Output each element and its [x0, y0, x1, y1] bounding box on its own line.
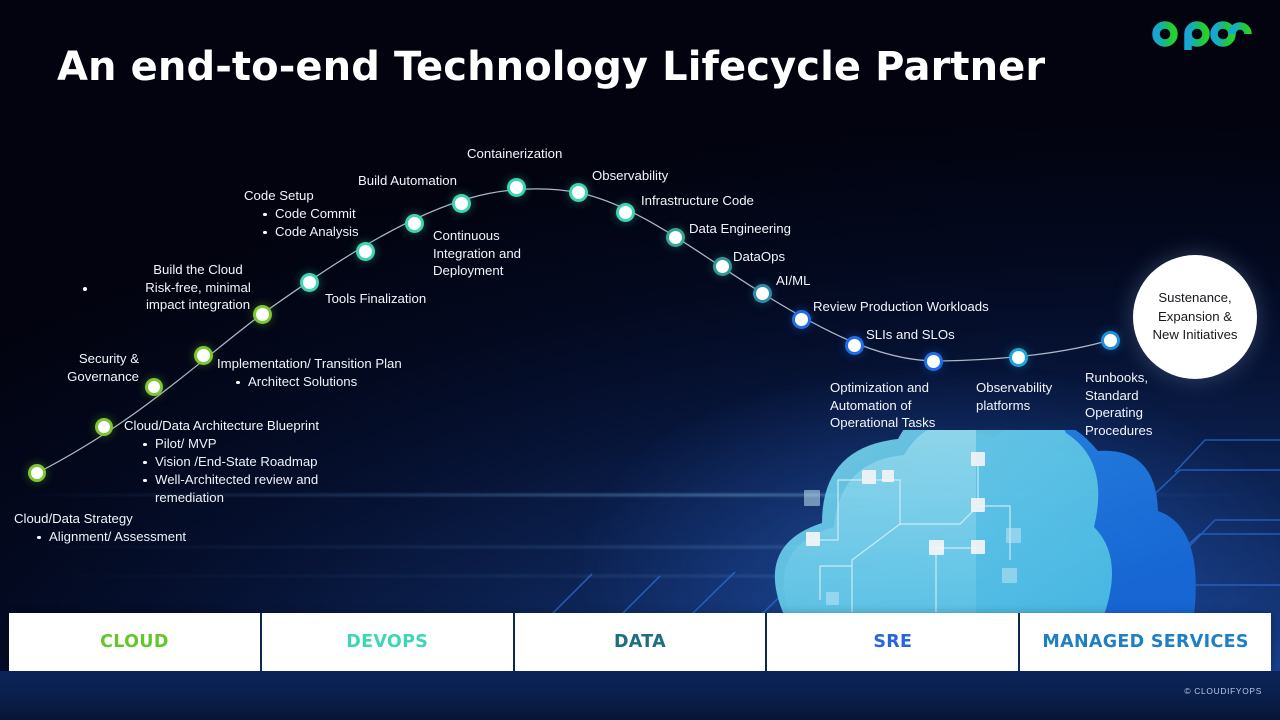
milestone-node[interactable] — [924, 352, 943, 371]
label-slis-and-slos: SLIs and SLOs — [866, 326, 955, 344]
milestone-node[interactable] — [356, 242, 375, 261]
milestone-node[interactable] — [1101, 331, 1120, 350]
milestone-node[interactable] — [194, 346, 213, 365]
milestone-node[interactable] — [713, 257, 732, 276]
list-item: Vision /End-State Roadmap — [140, 453, 390, 471]
legend-item-label: SRE — [873, 632, 912, 652]
list-item: Code Commit — [260, 205, 359, 223]
list-item: Pilot/ MVP — [140, 435, 390, 453]
milestone-node-core — [848, 339, 861, 352]
slide-canvas: An end-to-end Technology Lifecycle Partn… — [0, 0, 1280, 720]
label-infrastructure-code: Infrastructure Code — [641, 192, 754, 210]
milestone-node-core — [197, 349, 210, 362]
milestone-node[interactable] — [792, 310, 811, 329]
label-observability-platforms: Observability platforms — [976, 379, 1086, 414]
label-optimization-automation: Optimization and Automation of Operation… — [830, 379, 970, 432]
milestone-node-core — [669, 231, 682, 244]
label-build-the-cloud: Build the Cloud Risk-free, minimal impac… — [110, 261, 286, 314]
milestone-node[interactable] — [507, 178, 526, 197]
list-item: Alignment/ Assessment — [34, 528, 186, 546]
end-state-circle: Sustenance, Expansion & New Initiatives — [1133, 255, 1257, 379]
milestone-node-core — [510, 181, 523, 194]
milestone-node-core — [619, 206, 632, 219]
milestone-node[interactable] — [405, 214, 424, 233]
label-continuous-integration: Continuous Integration and Deployment — [433, 227, 521, 280]
label-tools-finalization: Tools Finalization — [325, 290, 426, 308]
milestone-node-core — [148, 381, 160, 393]
milestone-node-core — [1012, 351, 1025, 364]
label-runbooks: Runbooks, Standard Operating Procedures — [1085, 369, 1195, 439]
milestone-node[interactable] — [569, 183, 588, 202]
stage-legend-bar: CLOUDDEVOPSDATASREMANAGED SERVICES — [9, 613, 1271, 671]
list-item: Architect Solutions — [233, 373, 357, 391]
bullets-code-setup: Code Commit Code Analysis — [260, 205, 359, 241]
lifecycle-curve — [0, 0, 1280, 720]
legend-item-label: MANAGED SERVICES — [1042, 632, 1248, 652]
milestone-node-core — [408, 217, 421, 230]
legend-item-label: DEVOPS — [346, 632, 428, 652]
milestone-node[interactable] — [452, 194, 471, 213]
milestone-node[interactable] — [300, 273, 319, 292]
list-item: Code Analysis — [260, 223, 359, 241]
bullets-architecture-blueprint: Pilot/ MVP Vision /End-State Roadmap Wel… — [140, 435, 390, 507]
milestone-node-core — [795, 313, 808, 326]
label-implementation-plan: Implementation/ Transition Plan — [217, 355, 402, 373]
milestone-node[interactable] — [28, 464, 46, 482]
milestone-node[interactable] — [845, 336, 864, 355]
milestone-node[interactable] — [753, 284, 772, 303]
legend-item-cloud[interactable]: CLOUD — [9, 613, 262, 671]
bullets-cloud-data-strategy: Alignment/ Assessment — [34, 528, 186, 546]
bullets-implementation-plan: Architect Solutions — [233, 373, 357, 391]
milestone-node-core — [572, 186, 585, 199]
milestone-node-core — [359, 245, 372, 258]
legend-item-managed-services[interactable]: MANAGED SERVICES — [1020, 613, 1271, 671]
label-ai-ml: AI/ML — [776, 272, 810, 290]
label-review-production-workloads: Review Production Workloads — [813, 298, 989, 316]
milestone-node[interactable] — [666, 228, 685, 247]
label-observability: Observability — [592, 167, 668, 185]
bullet-marker — [83, 287, 87, 291]
legend-item-label: DATA — [614, 632, 666, 652]
milestone-node-core — [756, 287, 769, 300]
legend-item-data[interactable]: DATA — [515, 613, 768, 671]
end-state-text: Sustenance, Expansion & New Initiatives — [1152, 289, 1237, 345]
list-item: Well-Architected review and remediation — [140, 471, 390, 507]
label-code-setup: Code Setup — [244, 187, 314, 205]
milestone-node-core — [98, 421, 110, 433]
copyright-text: © CLOUDIFYOPS — [1184, 686, 1262, 696]
footer-band — [0, 671, 1280, 720]
legend-item-label: CLOUD — [100, 632, 168, 652]
legend-item-sre[interactable]: SRE — [767, 613, 1020, 671]
label-dataops: DataOps — [733, 248, 785, 266]
milestone-node-core — [716, 260, 729, 273]
milestone-node-core — [31, 467, 43, 479]
label-architecture-blueprint: Cloud/Data Architecture Blueprint — [124, 417, 319, 435]
milestone-node[interactable] — [1009, 348, 1028, 367]
milestone-node[interactable] — [95, 418, 113, 436]
label-security-governance: Security & Governance — [10, 350, 139, 385]
label-data-engineering: Data Engineering — [689, 220, 791, 238]
milestone-node-core — [303, 276, 316, 289]
label-cloud-data-strategy: Cloud/Data Strategy — [14, 510, 133, 528]
milestone-node-core — [455, 197, 468, 210]
milestone-node-core — [1104, 334, 1117, 347]
milestone-node-core — [927, 355, 940, 368]
milestone-node[interactable] — [145, 378, 163, 396]
legend-item-devops[interactable]: DEVOPS — [262, 613, 515, 671]
label-build-automation: Build Automation — [358, 172, 457, 190]
label-containerization: Containerization — [467, 145, 562, 163]
milestone-node[interactable] — [616, 203, 635, 222]
